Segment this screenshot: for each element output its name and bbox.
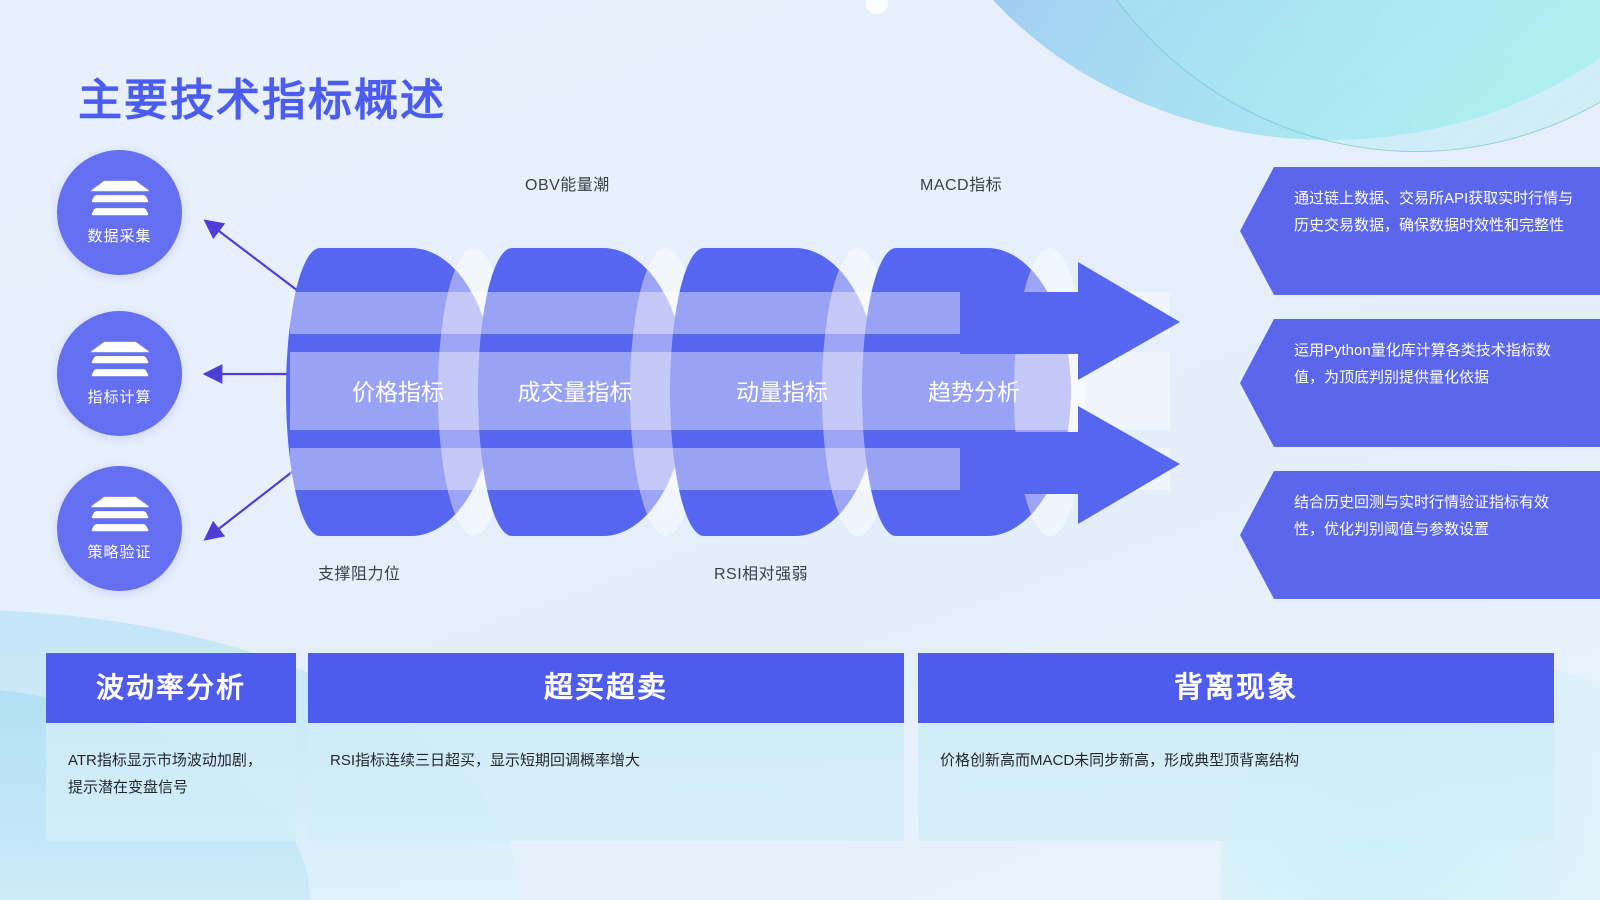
process-node-data-collection[interactable]: 数据采集 (57, 150, 182, 275)
layers-stack-icon (93, 179, 147, 219)
float-label-macd: MACD指标 (920, 171, 1002, 195)
callout-text: 结合历史回测与实时行情验证指标有效性，优化判别阈值与参数设置 (1294, 494, 1549, 538)
summary-card-body: RSI指标连续三日超买，显示短期回调概率增大 (308, 723, 904, 774)
callout-text: 通过链上数据、交易所API获取实时行情与历史交易数据，确保数据时效性和完整性 (1294, 190, 1573, 234)
summary-card-title: 波动率分析 (46, 653, 296, 723)
callout-indicator-calc[interactable]: 运用Python量化库计算各类技术指标数值，为顶底判别提供量化依据 (1240, 319, 1600, 447)
process-node-indicator-calc[interactable]: 指标计算 (57, 311, 182, 436)
callout-text: 运用Python量化库计算各类技术指标数值，为顶底判别提供量化依据 (1294, 342, 1551, 386)
funnel-diagram: 价格指标 成交量指标 动量指标 趋势分析 (290, 248, 1180, 536)
funnel-segment-label: 成交量指标 (510, 248, 640, 536)
funnel-segment-label: 价格指标 (318, 248, 478, 536)
slide-root: 主要技术指标概述 数据采集 指标计算 策略验证 (0, 0, 1600, 900)
process-node-strategy-validation[interactable]: 策略验证 (57, 466, 182, 591)
summary-card-title: 超买超卖 (308, 653, 904, 723)
page-title: 主要技术指标概述 (78, 64, 446, 128)
summary-card-overbought[interactable]: 超买超卖 RSI指标连续三日超买，显示短期回调概率增大 (308, 653, 904, 841)
summary-card-divergence[interactable]: 背离现象 价格创新高而MACD未同步新高，形成典型顶背离结构 (918, 653, 1554, 841)
funnel-segment-label: 趋势分析 (894, 248, 1054, 536)
summary-card-volatility[interactable]: 波动率分析 ATR指标显示市场波动加剧，提示潜在变盘信号 (46, 653, 296, 841)
summary-card-title: 背离现象 (918, 653, 1554, 723)
layers-stack-icon (93, 340, 147, 380)
float-label-rsi: RSI相对强弱 (714, 560, 808, 584)
process-node-label: 策略验证 (87, 541, 151, 562)
callout-strategy-validation[interactable]: 结合历史回测与实时行情验证指标有效性，优化判别阈值与参数设置 (1240, 471, 1600, 599)
process-node-label: 指标计算 (87, 386, 151, 407)
callout-data-collection[interactable]: 通过链上数据、交易所API获取实时行情与历史交易数据，确保数据时效性和完整性 (1240, 167, 1600, 295)
summary-card-body: 价格创新高而MACD未同步新高，形成典型顶背离结构 (918, 723, 1554, 774)
float-label-support: 支撑阻力位 (318, 560, 401, 584)
process-node-label: 数据采集 (87, 225, 151, 246)
layers-stack-icon (93, 495, 147, 535)
funnel-segment-label: 动量指标 (702, 248, 862, 536)
background-dot (866, 0, 888, 14)
summary-card-body: ATR指标显示市场波动加剧，提示潜在变盘信号 (46, 723, 296, 801)
float-label-obv: OBV能量潮 (525, 171, 610, 195)
